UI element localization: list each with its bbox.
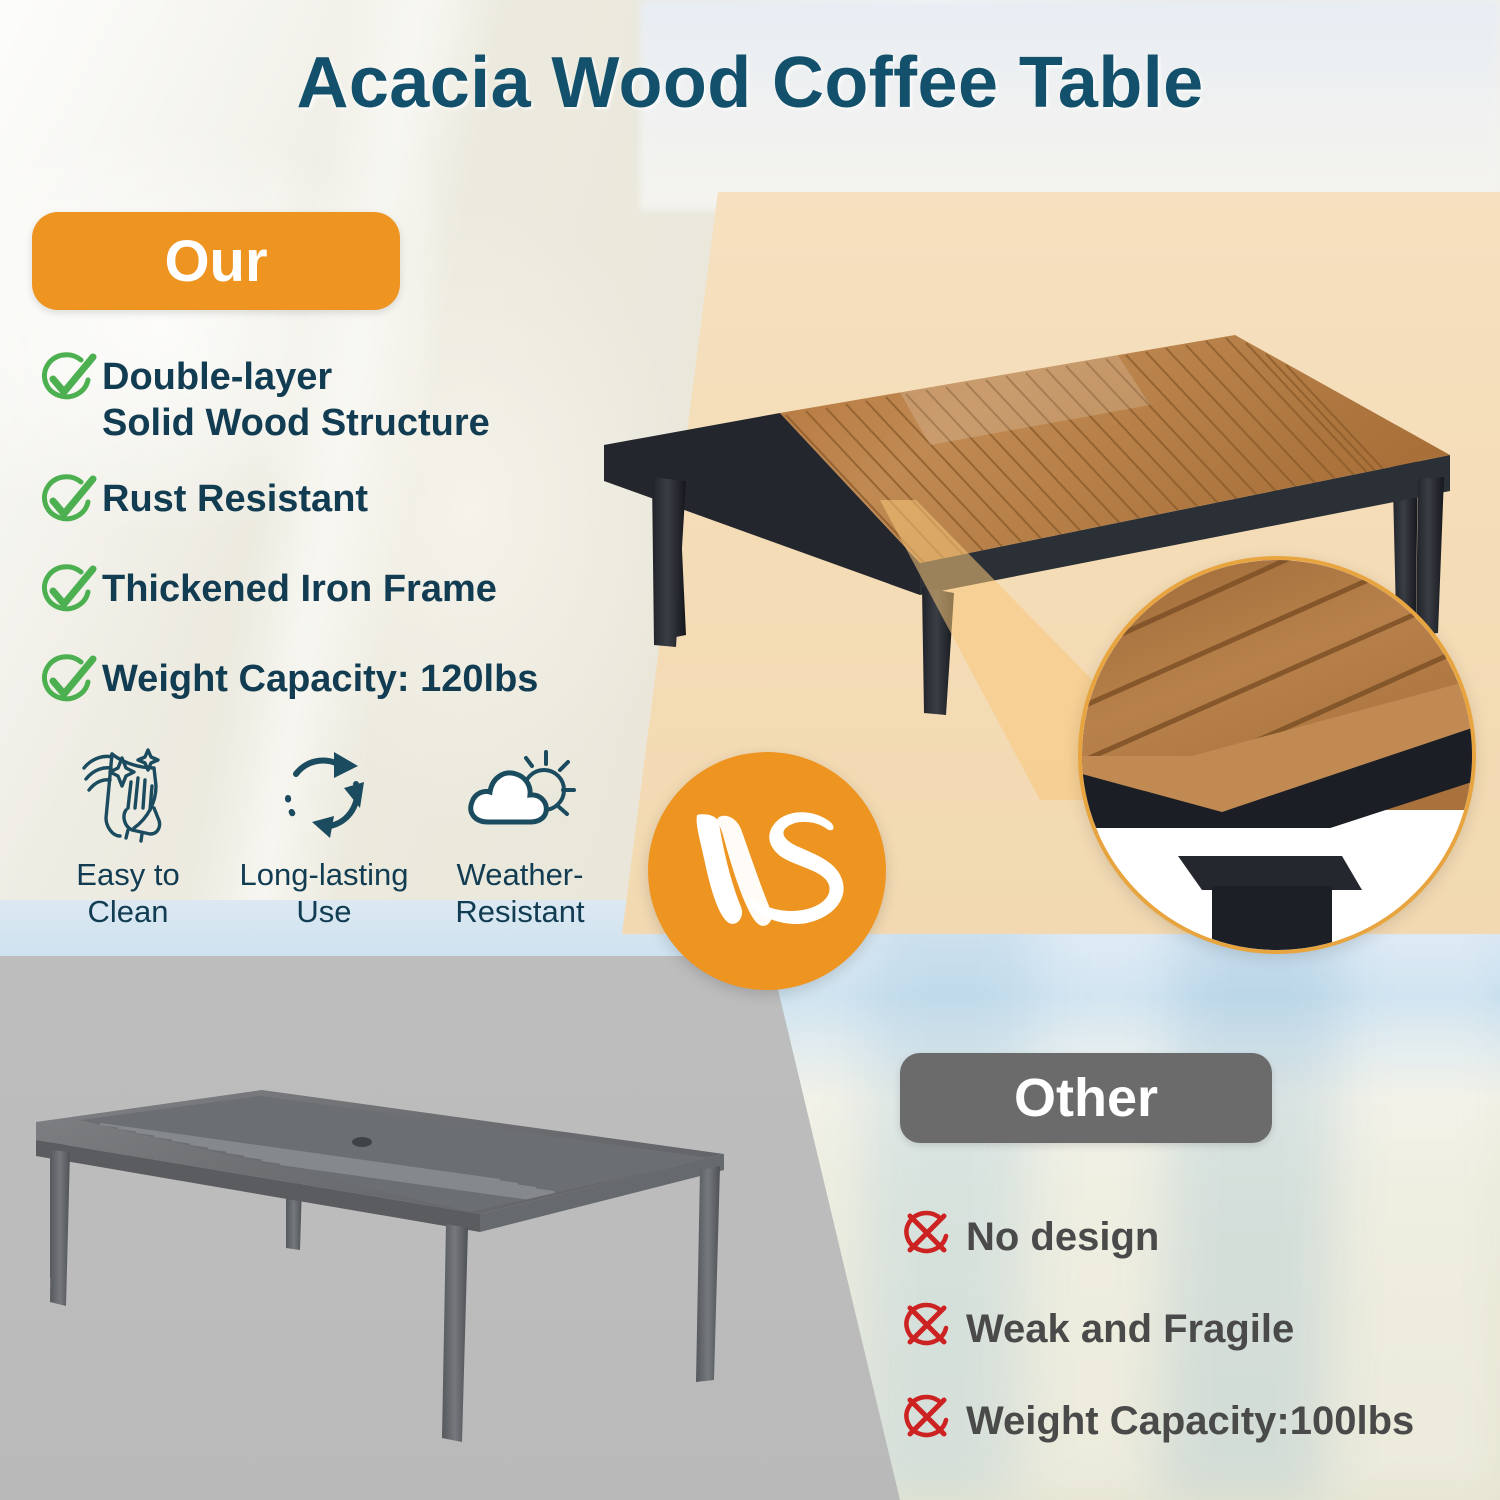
cloud-sun-icon (464, 746, 576, 846)
benefit-item: Long-lasting Use (226, 742, 422, 930)
check-circle-icon (36, 352, 98, 408)
our-feature-label: Rust Resistant (102, 474, 368, 522)
other-drawback-label: Weak and Fragile (966, 1306, 1294, 1352)
other-drawback-label: No design (966, 1214, 1159, 1260)
check-circle-icon (36, 474, 98, 530)
detail-closeup-illustration (1082, 560, 1472, 950)
cross-circle-icon (898, 1210, 956, 1264)
competitor-photo-gray-table (10, 1062, 750, 1462)
our-badge-label: Our (164, 228, 267, 295)
cross-circle-icon (898, 1394, 956, 1448)
our-feature-item: Weight Capacity: 120lbs (36, 654, 636, 710)
gray-table-leg-front-left (50, 1150, 70, 1306)
umbrella-hole (352, 1137, 372, 1147)
our-badge: Our (32, 212, 400, 310)
benefit-icon-strip: Easy to Clean Long-lasting Use (30, 742, 620, 930)
other-drawback-label: Weight Capacity:100lbs (966, 1398, 1414, 1444)
benefit-item: Easy to Clean (30, 742, 226, 930)
detail-zoom-circle (1078, 556, 1476, 954)
our-feature-item: Rust Resistant (36, 474, 636, 530)
our-feature-list: Double-layer Solid Wood Structure Rust R… (36, 352, 636, 724)
other-drawback-list: No design Weak and Fragile Weight Capaci… (898, 1210, 1478, 1486)
benefit-caption: Weather- Resistant (422, 856, 618, 930)
our-feature-item: Thickened Iron Frame (36, 564, 636, 620)
vs-brush-lettering: VS (679, 791, 855, 951)
our-feature-label: Weight Capacity: 120lbs (102, 654, 538, 702)
benefit-caption: Easy to Clean (30, 856, 226, 930)
other-badge: Other (900, 1053, 1272, 1143)
cleaning-cloth-icon (76, 746, 180, 846)
infographic-canvas: Acacia Wood Coffee Table (0, 0, 1500, 1500)
our-feature-label: Thickened Iron Frame (102, 564, 497, 612)
vs-badge: VS (648, 752, 886, 990)
our-feature-label: Double-layer Solid Wood Structure (102, 352, 490, 446)
recycle-arrows-icon (272, 746, 376, 846)
other-drawback-item: Weight Capacity:100lbs (898, 1394, 1478, 1448)
gray-table-leg-front-center (442, 1224, 468, 1442)
other-badge-label: Other (1014, 1067, 1158, 1129)
other-drawback-item: Weak and Fragile (898, 1302, 1478, 1356)
benefit-item: Weather- Resistant (422, 742, 618, 930)
gray-table-leg-front-right (696, 1166, 720, 1382)
cross-circle-icon (898, 1302, 956, 1356)
other-drawback-item: No design (898, 1210, 1478, 1264)
check-circle-icon (36, 564, 98, 620)
page-title: Acacia Wood Coffee Table (0, 42, 1500, 124)
check-circle-icon (36, 654, 98, 710)
our-feature-item: Double-layer Solid Wood Structure (36, 352, 636, 446)
benefit-caption: Long-lasting Use (226, 856, 422, 930)
table-leg-front-right (1416, 477, 1444, 635)
